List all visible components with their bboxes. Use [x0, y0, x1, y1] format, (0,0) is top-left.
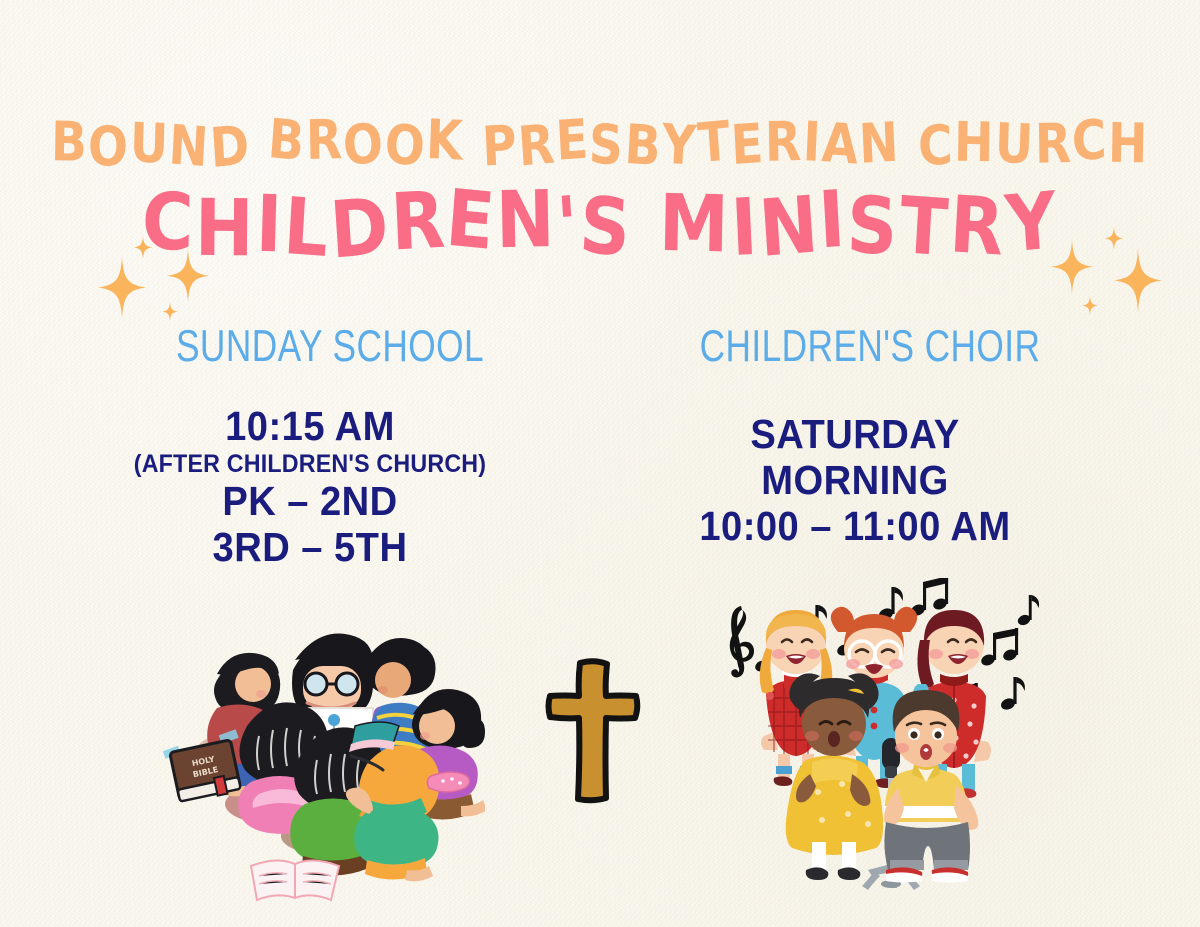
children-sunday-school-circle-illustration: HOLY BIBLE: [155, 608, 485, 903]
sparkles-left-svg: [84, 218, 234, 326]
choir-partday: MORNING: [623, 458, 1088, 504]
sunday-school-time: 10:15 AM: [78, 404, 543, 450]
sunday-school-svg: HOLY BIBLE: [155, 608, 485, 903]
sparkle-cluster-right-icon: [1034, 208, 1184, 320]
childrens-choir-heading: CHILDREN'S CHOIR: [593, 321, 1147, 372]
childrens-choir-details: SATURDAY MORNING 10:00 – 11:00 AM: [623, 412, 1088, 550]
sunday-school-note: (AFTER CHILDREN'S CHURCH): [78, 450, 543, 480]
sunday-school-grades-3rd5: 3RD – 5TH: [78, 525, 543, 571]
sparkle-cluster-left-icon: [84, 218, 234, 326]
pink-pencil-case: [427, 772, 469, 792]
poster-canvas: BOUND BROOK PRESBYTERIAN CHURCH BOUND BR…: [0, 0, 1200, 927]
sparkles-right-svg: [1034, 208, 1184, 320]
choir-day: SATURDAY: [623, 412, 1088, 458]
children-choir-singing-illustration: [722, 578, 1057, 893]
open-book: [251, 860, 339, 900]
choir-time: 10:00 – 11:00 AM: [623, 504, 1088, 550]
cross-svg: [533, 655, 653, 805]
sunday-school-grades-pk2: PK – 2ND: [78, 479, 543, 525]
wooden-cross-icon: [533, 655, 653, 805]
choir-child-yellow-dress: [786, 673, 883, 880]
sunday-school-details: 10:15 AM (AFTER CHILDREN'S CHURCH) PK – …: [78, 404, 543, 571]
sunday-school-heading: SUNDAY SCHOOL: [53, 321, 607, 372]
church-name-heading: BOUND BROOK PRESBYTERIAN CHURCH BOUND BR…: [0, 112, 1200, 176]
choir-svg: [722, 578, 1057, 893]
